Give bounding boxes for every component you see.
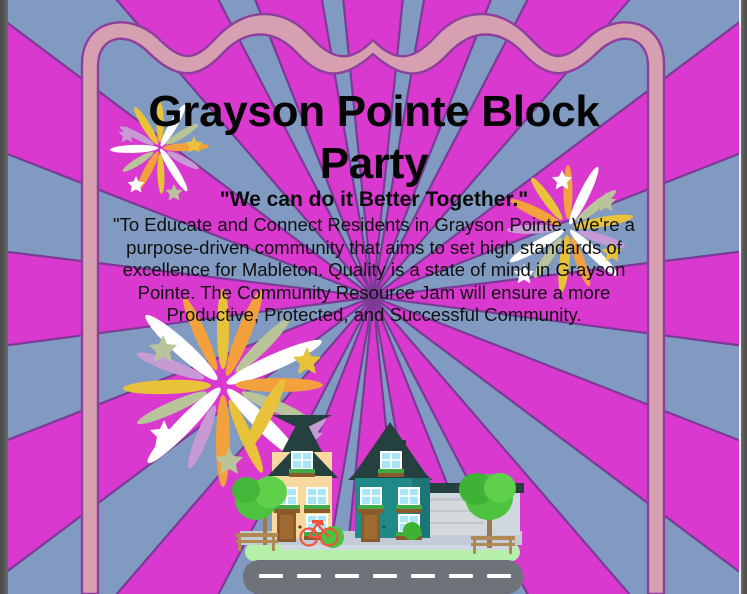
- house-window: [304, 488, 330, 513]
- block-party-flyer: Grayson Pointe Block Party "We can do it…: [0, 0, 747, 594]
- house-window: [396, 488, 422, 513]
- house-window: [358, 488, 384, 513]
- road: [243, 560, 523, 594]
- teal-house: [348, 422, 432, 542]
- neighborhood-illustration: [0, 0, 747, 594]
- shrub: [403, 522, 421, 540]
- house-window: [378, 452, 404, 477]
- window-left-edge: [0, 0, 8, 594]
- window-right-edge[interactable]: [741, 0, 747, 594]
- house-window: [289, 452, 315, 477]
